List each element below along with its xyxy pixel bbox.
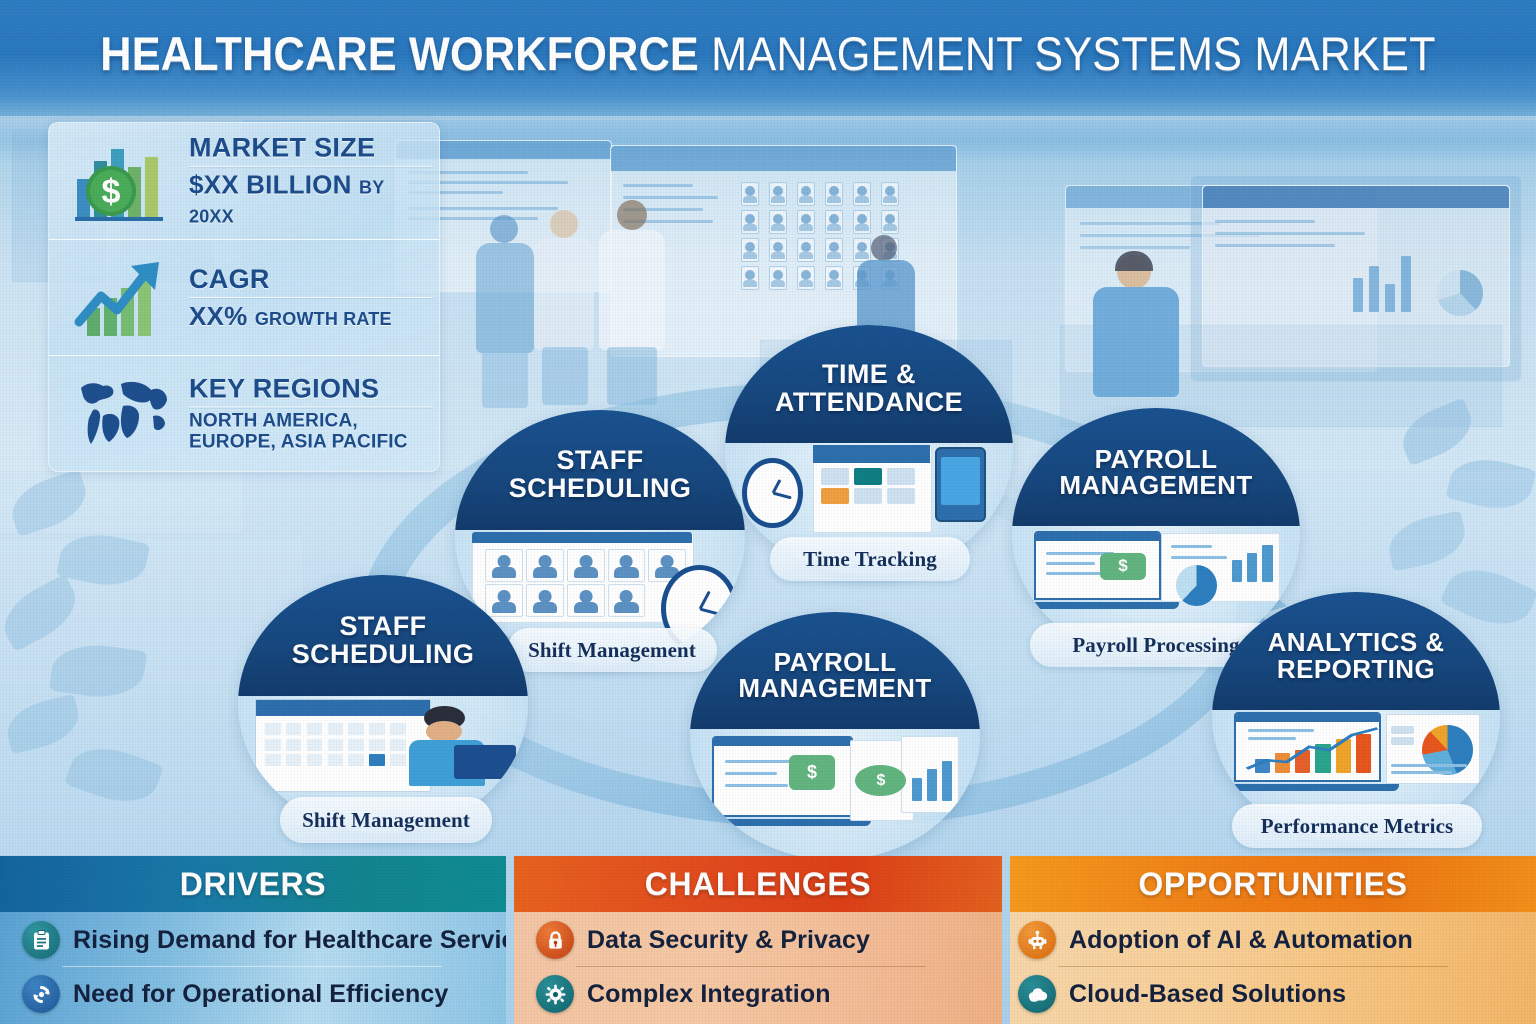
panel-item-label: Need for Operational Efficiency	[73, 980, 448, 1009]
panel-item-complex-integration[interactable]: Complex Integration	[514, 968, 1002, 1020]
card-caption-pill: Time Tracking	[770, 537, 970, 581]
card-title: STAFF SCHEDULING	[463, 447, 737, 502]
panel-item-rising-demand[interactable]: Rising Demand for Healthcare Services	[0, 914, 506, 966]
panel-item-label: Rising Demand for Healthcare Services	[73, 926, 506, 955]
panel-item-operational-efficiency[interactable]: Need for Operational Efficiency	[0, 968, 506, 1020]
panel-item-label: Cloud-Based Solutions	[1069, 980, 1346, 1009]
panel-opportunities: OPPORTUNITIES	[1010, 856, 1536, 1024]
stat-row-cagr: CAGR XX% GROWTH RATE	[49, 239, 439, 356]
bottom-panels: DRIVERS Rising Demand for Healthcare Ser…	[0, 856, 1536, 1024]
robot-icon	[1018, 921, 1056, 959]
stat-heading-cagr: CAGR	[189, 265, 433, 293]
card-title-banner: ANALYTICS & REPORTING	[1212, 592, 1500, 710]
panel-item-label: Data Security & Privacy	[587, 926, 870, 955]
stat-value-cagr: XX%	[189, 301, 247, 331]
card-artwork-payroll-docs: $ $	[707, 736, 962, 840]
stat-suffix-cagr: GROWTH RATE	[255, 309, 392, 329]
clipboard-icon	[22, 921, 60, 959]
card-caption-pill: Shift Management	[280, 797, 492, 843]
panel-header-challenges: CHALLENGES	[514, 856, 1002, 912]
flow-card-staff-scheduling-left[interactable]: STAFF SCHEDULING	[238, 575, 528, 833]
card-title: ANALYTICS & REPORTING	[1220, 629, 1492, 682]
gear-icon	[536, 975, 574, 1013]
panel-heading: DRIVERS	[180, 866, 326, 903]
lock-icon	[536, 921, 574, 959]
panel-item-data-security[interactable]: Data Security & Privacy	[514, 914, 1002, 966]
panel-item-ai-automation[interactable]: Adoption of AI & Automation	[1010, 914, 1536, 966]
svg-text:$: $	[102, 173, 121, 211]
panel-challenges: CHALLENGES Data Security & Privacy	[514, 856, 1002, 1024]
card-title-banner: PAYROLL MANAGEMENT	[1012, 408, 1300, 526]
card-caption-pill: Shift Management	[507, 628, 717, 672]
flow-card-payroll-management-bottom[interactable]: PAYROLL MANAGEMENT $ $	[690, 612, 980, 860]
bar-chart-dollar-icon: $	[73, 139, 173, 223]
card-caption-pill: Performance Metrics	[1232, 804, 1482, 848]
card-title: TIME & ATTENDANCE	[733, 361, 1005, 416]
divider	[189, 166, 433, 167]
panel-header-drivers: DRIVERS	[0, 856, 506, 912]
page-title-light: MANAGEMENT SYSTEMS MARKET	[711, 27, 1436, 80]
flow-card-analytics-reporting[interactable]: ANALYTICS & REPORTING	[1212, 592, 1500, 842]
card-title: STAFF SCHEDULING	[246, 613, 520, 668]
panel-item-cloud-solutions[interactable]: Cloud-Based Solutions	[1010, 968, 1536, 1020]
card-title-banner: PAYROLL MANAGEMENT	[690, 612, 980, 729]
panel-heading: OPPORTUNITIES	[1138, 866, 1407, 903]
divider	[576, 966, 926, 967]
page-title-bold: HEALTHCARE WORKFORCE	[100, 27, 699, 80]
refresh-cycle-icon	[22, 975, 60, 1013]
card-artwork-analytics-dashboard	[1229, 712, 1482, 802]
card-artwork-calendar-nurse	[255, 699, 510, 792]
world-map-icon	[73, 372, 173, 456]
card-title-banner: STAFF SCHEDULING	[455, 410, 745, 530]
card-title-banner: STAFF SCHEDULING	[238, 575, 528, 696]
card-artwork-timeclock	[742, 445, 995, 535]
panel-drivers: DRIVERS Rising Demand for Healthcare Ser…	[0, 856, 506, 1024]
stat-row-market-size: $ MARKET SIZE $XX BILLION BY 20XX	[49, 123, 439, 239]
divider	[189, 297, 433, 298]
panel-item-label: Complex Integration	[587, 980, 831, 1009]
cloud-icon	[1018, 975, 1056, 1013]
panel-heading: CHALLENGES	[645, 866, 871, 903]
stat-value-market-size: $XX BILLION	[189, 170, 352, 200]
flow-card-time-attendance[interactable]: TIME & ATTENDANCE Time Tracking	[725, 325, 1013, 575]
panel-item-label: Adoption of AI & Automation	[1069, 926, 1413, 955]
divider	[1058, 966, 1448, 967]
card-title: PAYROLL MANAGEMENT	[1020, 446, 1292, 499]
card-title-banner: TIME & ATTENDANCE	[725, 325, 1013, 443]
panel-header-opportunities: OPPORTUNITIES	[1010, 856, 1536, 912]
growth-arrow-icon	[73, 256, 173, 340]
infographic-root: HEALTHCARE WORKFORCE MANAGEMENT SYSTEMS …	[0, 0, 1536, 1024]
card-title: PAYROLL MANAGEMENT	[698, 649, 972, 702]
divider	[62, 966, 442, 967]
page-title: HEALTHCARE WORKFORCE MANAGEMENT SYSTEMS …	[61, 30, 1474, 77]
stat-heading-market-size: MARKET SIZE	[189, 134, 433, 162]
